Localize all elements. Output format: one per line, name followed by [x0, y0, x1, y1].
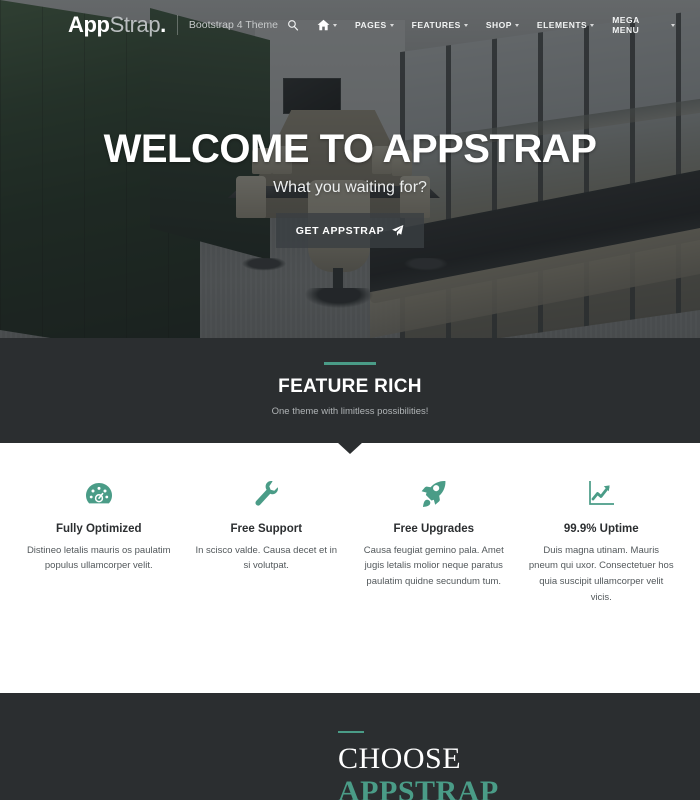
feature-text: Causa feugiat gemino pala. Amet jugis le…: [361, 543, 507, 590]
brand-tagline: Bootstrap 4 Theme: [189, 19, 278, 31]
brand-name-dot: .: [160, 12, 166, 37]
feature-title: Free Upgrades: [361, 523, 507, 535]
nav-item-shop[interactable]: SHOP: [477, 14, 528, 36]
nav-item-mega-menu[interactable]: MEGA MENU: [603, 9, 684, 41]
feature-rich-band: FEATURE RICH One theme with limitless po…: [0, 338, 700, 443]
feature-card-free-support: Free Support In scisco valde. Causa dece…: [186, 477, 348, 574]
nav-item-features[interactable]: FEATURES: [403, 14, 477, 36]
band-title: FEATURE RICH: [0, 376, 700, 398]
band-down-arrow-notch: [337, 442, 363, 454]
brand-logo[interactable]: AppStrap. Bootstrap 4 Theme: [68, 12, 278, 38]
band-accent-rule: [324, 362, 376, 365]
nav-item-pages[interactable]: PAGES: [346, 14, 403, 36]
top-navigation-bar: AppStrap. Bootstrap 4 Theme: [0, 0, 700, 50]
home-icon: [317, 19, 330, 31]
chevron-down-icon: [590, 24, 594, 27]
choose-accent-rule: [338, 731, 364, 734]
nav-item-shop-label: SHOP: [486, 20, 512, 30]
rocket-icon: [361, 477, 507, 511]
chevron-down-icon: [464, 24, 468, 27]
brand-name-app: App: [68, 12, 110, 37]
feature-title: Free Support: [194, 523, 340, 535]
nav-item-mega-menu-label: MEGA MENU: [612, 15, 668, 35]
brand-name-strap: Strap: [110, 12, 161, 37]
choose-heading-line1: CHOOSE: [338, 743, 700, 775]
nav-item-elements[interactable]: ELEMENTS: [528, 14, 603, 36]
feature-text: In scisco valde. Causa decet et in si vo…: [194, 543, 340, 574]
feature-text: Duis magna utinam. Mauris pneum qui uxor…: [529, 543, 675, 606]
hero-subtitle: What you waiting for?: [0, 179, 700, 197]
chevron-down-icon: [515, 24, 519, 27]
choose-heading-line2: APPSTRAP: [338, 775, 700, 800]
get-appstrap-button-label: GET APPSTRAP: [296, 225, 385, 237]
hero-section: AppStrap. Bootstrap 4 Theme: [0, 0, 700, 338]
search-icon: [287, 19, 299, 31]
hero-title: WELCOME TO APPSTRAP: [0, 128, 700, 170]
tachometer-icon: [26, 477, 172, 511]
nav-item-features-label: FEATURES: [412, 20, 461, 30]
nav-item-pages-label: PAGES: [355, 20, 387, 30]
wrench-icon: [194, 477, 340, 511]
search-button[interactable]: [278, 13, 308, 37]
chevron-down-icon: [390, 24, 394, 27]
brand-divider: [177, 15, 178, 35]
feature-card-fully-optimized: Fully Optimized Distineo letalis mauris …: [18, 477, 180, 574]
home-menu-item[interactable]: [308, 13, 346, 37]
feature-card-free-upgrades: Free Upgrades Causa feugiat gemino pala.…: [353, 477, 515, 590]
features-section: Fully Optimized Distineo letalis mauris …: [0, 443, 700, 693]
nav-links-group: PAGES FEATURES SHOP ELEMENTS MEGA MENU: [278, 9, 684, 41]
chevron-down-icon: [671, 24, 675, 27]
hero-content: WELCOME TO APPSTRAP What you waiting for…: [0, 128, 700, 248]
nav-item-elements-label: ELEMENTS: [537, 20, 587, 30]
feature-card-uptime: 99.9% Uptime Duis magna utinam. Mauris p…: [521, 477, 683, 606]
band-subtitle: One theme with limitless possibilities!: [0, 406, 700, 417]
page-root: AppStrap. Bootstrap 4 Theme: [0, 0, 700, 800]
chevron-down-icon: [333, 24, 337, 27]
get-appstrap-button[interactable]: GET APPSTRAP: [276, 213, 425, 248]
line-chart-icon: [529, 477, 675, 511]
feature-title: Fully Optimized: [26, 523, 172, 535]
paper-plane-icon: [391, 224, 404, 237]
feature-title: 99.9% Uptime: [529, 523, 675, 535]
feature-text: Distineo letalis mauris os paulatim popu…: [26, 543, 172, 574]
choose-appstrap-section: CHOOSE APPSTRAP FULLY OPTIMIZED Defui ia…: [0, 693, 700, 800]
